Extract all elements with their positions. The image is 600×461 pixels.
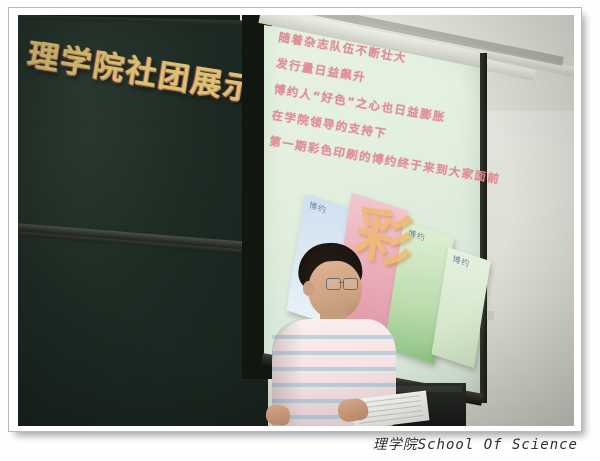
photo-caption: 理学院School Of Science bbox=[0, 434, 578, 454]
magazine-cover-label: 博约 bbox=[407, 227, 426, 243]
page-root: 理学院社团展示 随着杂志队伍不断壮大 发行量日益飙升 博约人“好色”之心也日益膨… bbox=[0, 0, 600, 461]
magazine-cover-label: 博约 bbox=[452, 253, 471, 269]
photograph: 理学院社团展示 随着杂志队伍不断壮大 发行量日益飙升 博约人“好色”之心也日益膨… bbox=[18, 15, 574, 426]
glasses-icon bbox=[326, 278, 358, 289]
photo-frame: 理学院社团展示 随着杂志队伍不断壮大 发行量日益飙升 博约人“好色”之心也日益膨… bbox=[8, 7, 582, 432]
presenter-hand bbox=[265, 404, 291, 426]
wall-mark bbox=[488, 311, 494, 320]
presenter bbox=[270, 243, 410, 426]
presenter-ear bbox=[303, 281, 314, 296]
magazine-cover-label: 博约 bbox=[308, 200, 327, 216]
